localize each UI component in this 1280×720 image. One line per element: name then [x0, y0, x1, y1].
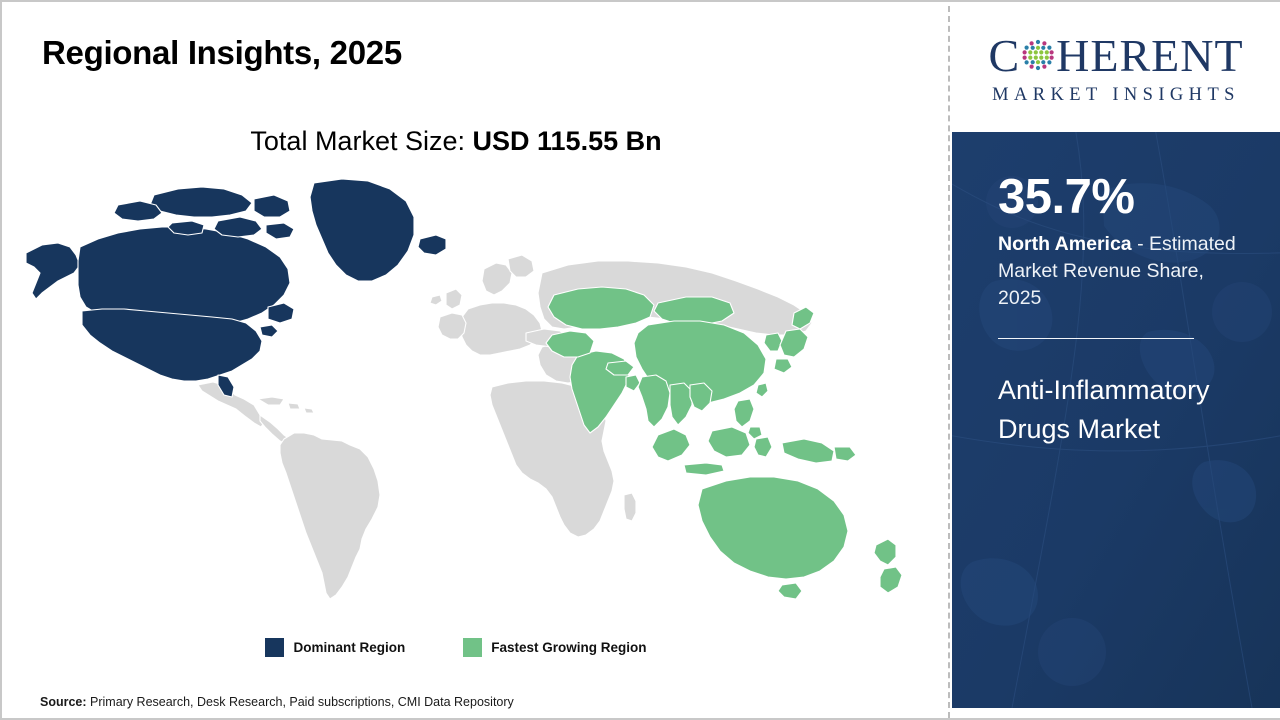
stat-description: North America - Estimated Market Revenue…	[998, 231, 1252, 312]
legend-label-dominant: Dominant Region	[293, 640, 405, 655]
square-swatch-icon	[265, 638, 284, 657]
globe-dots-icon	[1021, 38, 1055, 72]
logo-subtitle: MARKET INSIGHTS	[992, 85, 1240, 106]
stat-region-name: North America	[998, 233, 1132, 255]
world-map	[22, 177, 922, 617]
total-market-size: Total Market Size: USD 115.55 Bn	[2, 126, 910, 157]
brand-logo: C	[952, 4, 1280, 130]
source-note: Source: Primary Research, Desk Research,…	[40, 695, 514, 709]
map-layer-north-america	[26, 179, 446, 397]
square-swatch-icon	[463, 638, 482, 657]
stat-panel: 35.7% North America - Estimated Market R…	[952, 132, 1280, 708]
legend-item-fastest-growing: Fastest Growing Region	[463, 638, 646, 657]
total-market-size-value: USD 115.55 Bn	[473, 126, 662, 156]
stat-panel-content: 35.7% North America - Estimated Market R…	[952, 132, 1280, 449]
logo-word-coherent: HERENT	[1056, 33, 1243, 79]
map-legend: Dominant Region Fastest Growing Region	[2, 638, 910, 657]
source-value: Primary Research, Desk Research, Paid su…	[87, 695, 514, 709]
market-name: Anti-Inflammatory Drugs Market	[998, 371, 1228, 449]
logo-wordmark: C	[988, 29, 1243, 83]
legend-item-dominant: Dominant Region	[265, 638, 405, 657]
logo-letter-c: C	[988, 33, 1020, 79]
map-section: Regional Insights, 2025 Total Market Siz…	[2, 2, 950, 718]
legend-label-fastest-growing: Fastest Growing Region	[491, 640, 646, 655]
stat-value: 35.7%	[998, 172, 1252, 223]
page-title: Regional Insights, 2025	[42, 34, 402, 72]
source-label: Source:	[40, 695, 87, 709]
total-market-size-label: Total Market Size:	[250, 126, 465, 156]
infographic-page: Regional Insights, 2025 Total Market Siz…	[0, 0, 1280, 720]
vertical-dashed-divider	[948, 6, 950, 718]
stat-divider-rule	[998, 338, 1194, 339]
